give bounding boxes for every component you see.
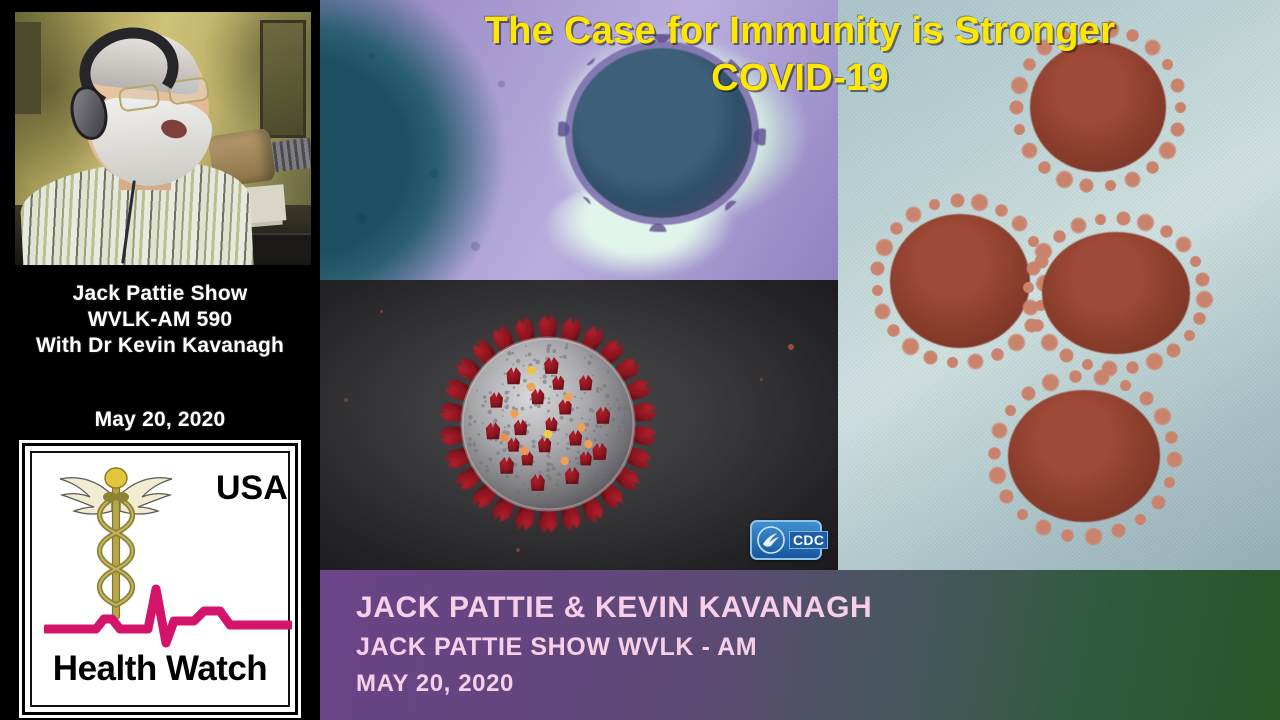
ekg-line-icon — [44, 581, 292, 651]
dust-speck — [788, 344, 794, 350]
particle-core — [1042, 232, 1190, 354]
slide-title: The Case for Immunity is Stronger COVID-… — [320, 8, 1280, 102]
sars-cov-2-illustration — [412, 288, 684, 560]
usa-letters-label: USA — [216, 469, 262, 508]
coronavirus-particle — [1028, 218, 1204, 368]
caption-date: MAY 20, 2020 — [356, 666, 1280, 702]
coronavirus-particle — [876, 200, 1044, 362]
dust-speck — [760, 378, 763, 381]
cdc-badge: CDC — [750, 520, 822, 560]
hhs-bird-icon — [756, 525, 786, 555]
cdc-3d-virus-panel: CDC — [320, 280, 838, 570]
usa-health-watch-logo: USA Health Watch — [22, 443, 298, 715]
photo-door-edge — [15, 22, 41, 114]
cdc-text-label: CDC — [789, 531, 828, 549]
guest-label: With Dr Kevin Kavanagh — [0, 334, 320, 358]
particle-core — [890, 214, 1030, 348]
show-name-label: Jack Pattie Show — [0, 282, 320, 306]
broadcast-date-label: May 20, 2020 — [0, 408, 320, 432]
particle-core — [1008, 390, 1160, 522]
logo-wordmark-label: Health Watch — [32, 649, 288, 689]
photo-wall-frame — [260, 20, 306, 138]
slide-canvas: Jack Pattie Show WVLK-AM 590 With Dr Kev… — [0, 0, 1280, 720]
dust-speck — [344, 398, 348, 402]
lower-third-caption: JACK PATTIE & KEVIN KAVANAGH JACK PATTIE… — [320, 570, 1280, 720]
radio-host-photo — [15, 12, 311, 265]
coronavirus-particle — [994, 376, 1174, 536]
info-sidebar: Jack Pattie Show WVLK-AM 590 With Dr Kev… — [0, 0, 320, 720]
caption-program: JACK PATTIE SHOW WVLK - AM — [356, 628, 1280, 666]
logo-inner-border: USA Health Watch — [30, 451, 290, 707]
title-line-2: COVID-19 — [320, 55, 1280, 102]
caption-names: JACK PATTIE & KEVIN KAVANAGH — [356, 588, 1280, 628]
station-label: WVLK-AM 590 — [0, 308, 320, 332]
title-line-1: The Case for Immunity is Stronger — [485, 10, 1116, 52]
dust-speck — [380, 310, 383, 313]
